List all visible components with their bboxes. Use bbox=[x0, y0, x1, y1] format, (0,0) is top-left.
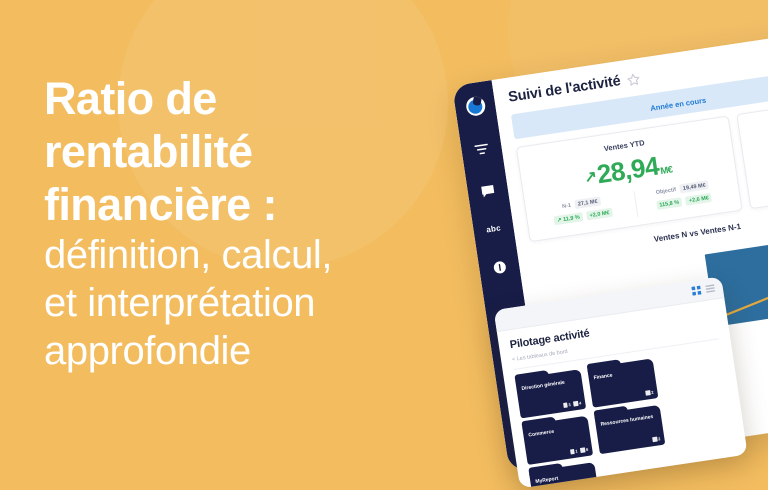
abc-icon[interactable]: abc bbox=[486, 223, 502, 234]
folder-badges: 1 6 bbox=[570, 447, 589, 455]
dashboard-mockup: abc Suivi de l'activité Année en cour bbox=[452, 24, 768, 482]
folder-name: Ressources humaines bbox=[600, 413, 656, 427]
kpi-card-secondary[interactable]: ↗ 7,9 bbox=[736, 98, 768, 209]
pilotage-activite-window: Pilotage activité < Les tableaux de bord… bbox=[494, 276, 748, 488]
folder-card[interactable]: Ressources humaines 2 bbox=[594, 405, 665, 454]
folder-name: Finance bbox=[593, 367, 649, 381]
kpi-objectif-label: Objectif bbox=[655, 187, 676, 196]
kpi-objectif-delta: +2,6 M€ bbox=[685, 193, 712, 206]
kpi-card-ventes-ytd[interactable]: Ventes YTD ↗28,94M€ N-1 27,1 M€ ↗ 11,9 % bbox=[516, 115, 743, 242]
headline-light-line-3: approfondie bbox=[44, 327, 464, 375]
star-icon[interactable] bbox=[626, 72, 641, 87]
kpi-compare-value: 27,1 M€ bbox=[574, 196, 601, 209]
folder-card[interactable]: Commerce 1 6 bbox=[522, 416, 593, 465]
app-logo[interactable] bbox=[464, 95, 486, 117]
kpi-objectif-value: 19,49 M€ bbox=[679, 180, 709, 193]
info-icon[interactable] bbox=[490, 258, 508, 276]
folder-card[interactable]: MyReport 1 bbox=[529, 462, 600, 488]
kpi-compare-label: N-1 bbox=[562, 202, 572, 209]
folder-badges: 2 bbox=[645, 390, 653, 396]
folder-name: MyReport bbox=[535, 471, 591, 485]
headline-bold-line-3: financière : bbox=[44, 178, 464, 231]
folder-badge: 1 bbox=[570, 448, 578, 454]
folder-card[interactable]: Direction générale 3 4 bbox=[515, 369, 586, 418]
folder-name: Direction générale bbox=[521, 378, 577, 392]
folder-grid: Direction générale 3 4 Finance 2 Commerc… bbox=[515, 348, 741, 488]
folder-badges: 3 4 bbox=[563, 400, 582, 408]
folder-card[interactable]: Finance 2 bbox=[587, 358, 658, 407]
folder-badge: 2 bbox=[652, 436, 660, 442]
folder-name: Commerce bbox=[528, 424, 584, 438]
comment-icon[interactable] bbox=[479, 182, 497, 200]
list-view-icon[interactable] bbox=[705, 283, 715, 293]
kpi-compare-objectif: Objectif 19,49 M€ 115,8 % +2,6 M€ bbox=[634, 177, 733, 217]
folder-badge: 4 bbox=[573, 400, 581, 406]
kpi-compare-delta: +2,0 M€ bbox=[586, 208, 613, 221]
kpi-number: 28,94 bbox=[595, 151, 661, 190]
folder-badge: 2 bbox=[645, 390, 653, 396]
kpi-compare-n1: N-1 27,1 M€ ↗ 11,9 % +2,0 M€ bbox=[534, 192, 632, 232]
headline-bold-line-1: Ratio de bbox=[44, 72, 464, 125]
tab-label: Année en cours bbox=[650, 95, 707, 112]
grid-view-icon[interactable] bbox=[691, 286, 701, 296]
headline-light-line-1: définition, calcul, bbox=[44, 231, 464, 279]
kpi-unit: M€ bbox=[660, 164, 673, 177]
headline-bold-line-2: rentabilité bbox=[44, 125, 464, 178]
folder-badge: 3 bbox=[563, 402, 571, 408]
kpi-objectif-pct: 115,8 % bbox=[656, 197, 683, 210]
page-title: Ratio de rentabilité financière : défini… bbox=[44, 72, 464, 375]
overlay-body: Pilotage activité < Les tableaux de bord… bbox=[497, 298, 748, 488]
headline-light-line-2: et interprétation bbox=[44, 279, 464, 327]
folder-badges: 2 bbox=[652, 436, 660, 442]
kpi-compare-pct: ↗ 11,9 % bbox=[553, 212, 583, 225]
filter-icon[interactable] bbox=[473, 140, 491, 158]
